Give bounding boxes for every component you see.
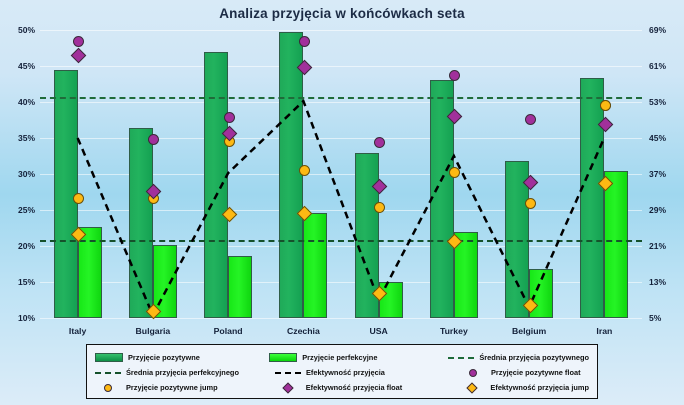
bar-dark-swatch-icon — [95, 353, 123, 362]
y-tick-right: 37% — [649, 170, 682, 179]
efficiency-polyline — [78, 101, 605, 315]
marker-float-circle — [299, 36, 310, 47]
x-axis-label: Italy — [40, 327, 115, 336]
efficiency-line — [40, 30, 642, 318]
marker-float-circle — [224, 112, 235, 123]
legend-item-pozytywne-jump[interactable]: Przyjęcie pozytywne jump — [95, 380, 275, 395]
marker-jump-circle — [449, 167, 460, 178]
x-axis-label: Poland — [191, 327, 266, 336]
legend-item-efektywnosc-float[interactable]: Efektywność przyjęcia float — [275, 380, 460, 395]
x-axis-label: Turkey — [416, 327, 491, 336]
legend-row: Przyjęcie pozytywne jump Efektywność prz… — [95, 380, 589, 395]
x-axis-label: USA — [341, 327, 416, 336]
legend-item-przyjecie-pozytywne[interactable]: Przyjęcie pozytywne — [95, 350, 269, 365]
dashed-black-line-icon — [275, 372, 301, 374]
marker-float-circle — [73, 36, 84, 47]
legend-label: Efektywność przyjęcia — [306, 368, 385, 377]
y-tick-left: 20% — [2, 242, 35, 251]
legend-label: Przyjęcie pozytywne — [128, 353, 200, 362]
x-axis-label: Czechia — [266, 327, 341, 336]
legend-label: Średnia przyjęcia pozytywnego — [479, 353, 589, 362]
legend-label: Efektywność przyjęcia float — [306, 383, 403, 392]
legend-item-srednia-perfekcyjnego[interactable]: Średnia przyjęcia perfekcyjnego — [95, 365, 275, 380]
y-tick-right: 61% — [649, 62, 682, 71]
legend-item-efektywnosc-jump[interactable]: Efektywność przyjęcia jump — [459, 380, 589, 395]
legend-label: Przyjęcie pozytywne float — [491, 368, 581, 377]
marker-jump-circle — [73, 193, 84, 204]
y-tick-left: 50% — [2, 26, 35, 35]
y-tick-left: 25% — [2, 206, 35, 215]
bar-light-swatch-icon — [269, 353, 297, 362]
y-tick-right: 69% — [649, 26, 682, 35]
diamond-orange-marker-icon — [459, 384, 485, 392]
chart-root: Analiza przyjęcia w końcówkach seta 10%1… — [0, 0, 684, 405]
x-axis-label: Bulgaria — [115, 327, 190, 336]
legend-item-przyjecie-perfekcyjne[interactable]: Przyjęcie perfekcyjne — [269, 350, 448, 365]
legend-label: Przyjęcie perfekcyjne — [302, 353, 377, 362]
marker-float-circle — [525, 114, 536, 125]
legend-row: Średnia przyjęcia perfekcyjnego Efektywn… — [95, 365, 589, 380]
marker-jump-circle — [299, 165, 310, 176]
legend-item-pozytywne-float[interactable]: Przyjęcie pozytywne float — [460, 365, 581, 380]
y-tick-left: 45% — [2, 62, 35, 71]
circle-orange-marker-icon — [95, 384, 121, 392]
legend-label: Efektywność przyjęcia jump — [490, 383, 589, 392]
y-tick-left: 30% — [2, 170, 35, 179]
y-tick-left: 40% — [2, 98, 35, 107]
diamond-purple-marker-icon — [275, 384, 301, 392]
legend-item-srednia-pozytywnego[interactable]: Średnia przyjęcia pozytywnego — [448, 350, 589, 365]
circle-purple-marker-icon — [460, 369, 486, 377]
y-tick-left: 10% — [2, 314, 35, 323]
x-axis-label: Belgium — [492, 327, 567, 336]
dashed-green-line-icon — [448, 357, 474, 359]
marker-float-circle — [148, 134, 159, 145]
y-tick-left: 35% — [2, 134, 35, 143]
plot-area — [40, 30, 642, 318]
marker-jump-circle — [374, 202, 385, 213]
gridline — [40, 318, 642, 319]
legend-item-efektywnosc-przyjecia[interactable]: Efektywność przyjęcia — [275, 365, 460, 380]
y-tick-left: 15% — [2, 278, 35, 287]
legend-label: Przyjęcie pozytywne jump — [126, 383, 218, 392]
y-tick-right: 53% — [649, 98, 682, 107]
chart-legend: Przyjęcie pozytywne Przyjęcie perfekcyjn… — [86, 344, 598, 399]
marker-jump-circle — [525, 198, 536, 209]
dashed-darkgreen-line-icon — [95, 372, 121, 374]
y-tick-right: 45% — [649, 134, 682, 143]
y-tick-right: 29% — [649, 206, 682, 215]
y-tick-right: 21% — [649, 242, 682, 251]
x-axis-label: Iran — [567, 327, 642, 336]
legend-label: Średnia przyjęcia perfekcyjnego — [126, 368, 239, 377]
y-tick-right: 13% — [649, 278, 682, 287]
chart-title: Analiza przyjęcia w końcówkach seta — [0, 6, 684, 21]
legend-row: Przyjęcie pozytywne Przyjęcie perfekcyjn… — [95, 350, 589, 365]
y-tick-right: 5% — [649, 314, 682, 323]
